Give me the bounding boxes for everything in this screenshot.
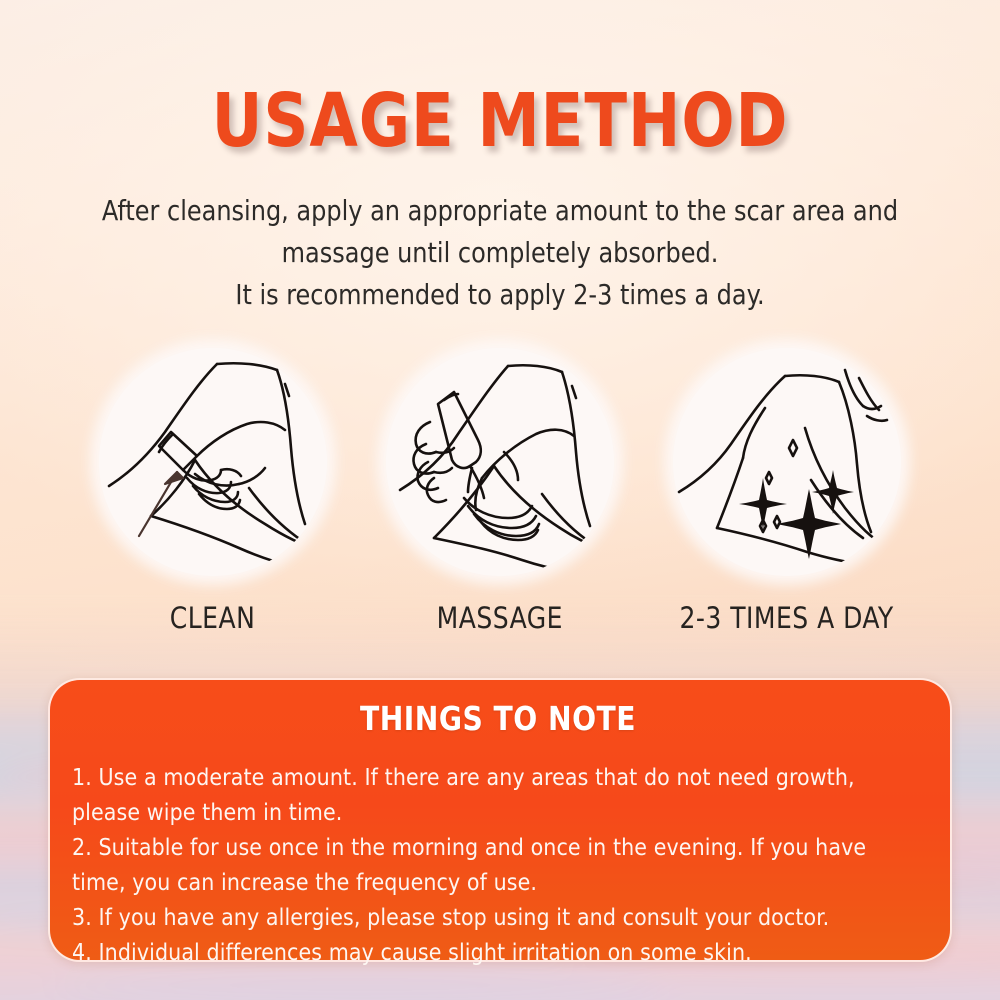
- step-massage-label: MASSAGE: [437, 601, 563, 635]
- promo-page: USAGE METHOD After cleansing, apply an a…: [0, 0, 1000, 1000]
- note-item-2: 2. Suitable for use once in the morning …: [72, 830, 903, 900]
- note-item-3: 3. If you have any allergies, please sto…: [72, 900, 903, 935]
- usage-instructions-line-3: It is recommended to apply 2-3 times a d…: [73, 274, 927, 316]
- step-massage: MASSAGE: [383, 348, 617, 635]
- clean-knee-with-sparkles-icon: [673, 348, 901, 576]
- note-item-4: 4. Individual differences may cause slig…: [72, 935, 903, 970]
- step-list: CLEAN: [0, 348, 1000, 635]
- step-clean: CLEAN: [96, 348, 330, 635]
- notes-title: THINGS TO NOTE: [93, 699, 902, 738]
- usage-instructions-line-2: massage until completely absorbed.: [73, 232, 927, 274]
- usage-instructions: After cleansing, apply an appropriate am…: [73, 190, 927, 316]
- things-to-note-panel: THINGS TO NOTE 1. Use a moderate amount.…: [48, 678, 952, 962]
- step-frequency-label: 2-3 TIMES A DAY: [680, 601, 894, 635]
- page-title: USAGE METHOD: [30, 78, 970, 164]
- step-clean-label: CLEAN: [170, 601, 256, 635]
- usage-instructions-line-1: After cleansing, apply an appropriate am…: [73, 190, 927, 232]
- note-item-1: 1. Use a moderate amount. If there are a…: [72, 760, 903, 830]
- hand-cleaning-knee-with-arrow-icon: [99, 348, 327, 576]
- hand-squeezing-tube-massage-knee-icon: [386, 348, 614, 576]
- notes-list: 1. Use a moderate amount. If there are a…: [72, 760, 924, 970]
- step-frequency: 2-3 TIMES A DAY: [670, 348, 904, 635]
